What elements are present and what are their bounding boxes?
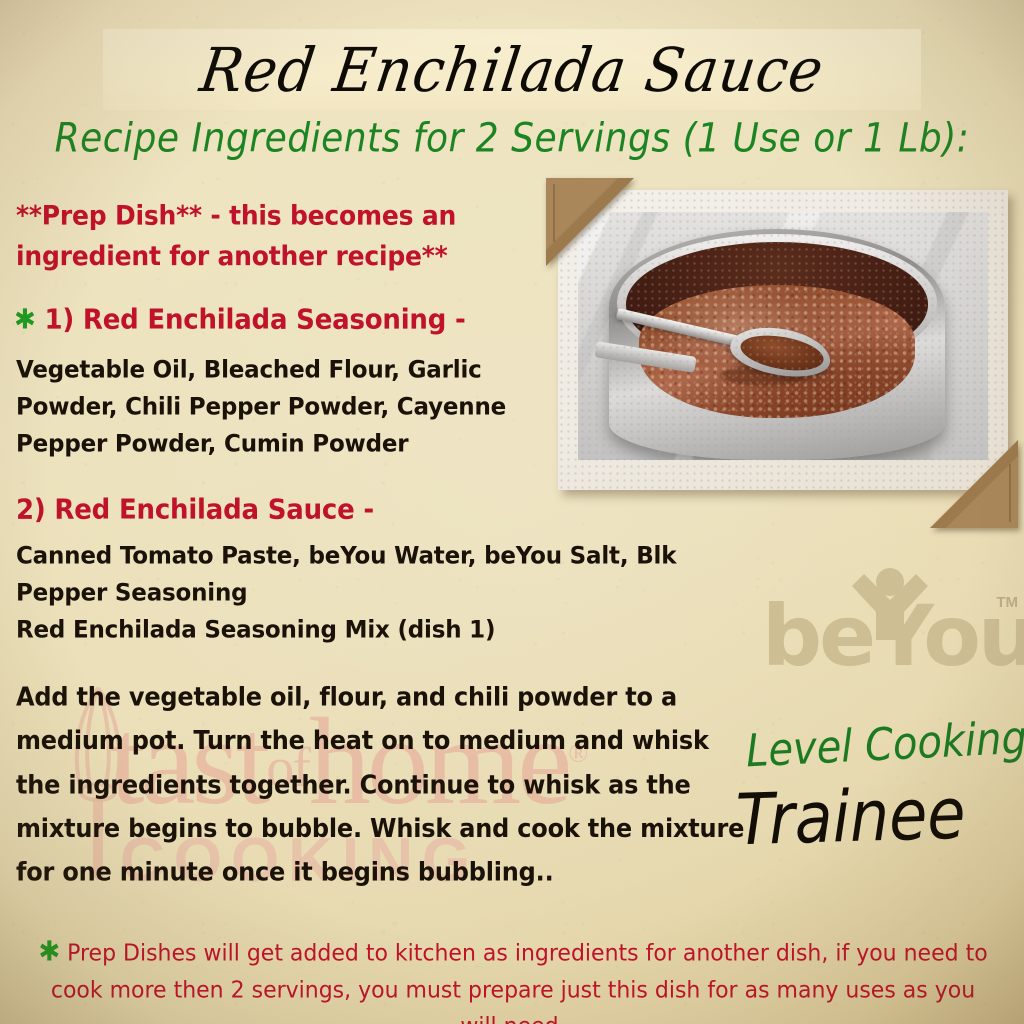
title-banner: Red Enchilada Sauce bbox=[103, 29, 921, 110]
photo-saucepan bbox=[609, 229, 945, 460]
beyou-wordmark: beYou bbox=[762, 594, 1024, 678]
section-2-title: 2) Red Enchilada Sauce bbox=[16, 494, 355, 526]
section-1-ingredients: Vegetable Oil, Bleached Flour, Garlic Po… bbox=[16, 352, 536, 463]
level-cooking-label: Level Cooking bbox=[745, 712, 1024, 777]
prep-dish-note: **Prep Dish** - this becomes an ingredie… bbox=[16, 196, 536, 277]
section-2-heading: 2) Red Enchilada Sauce - bbox=[16, 490, 374, 532]
recipe-subtitle: Recipe Ingredients for 2 Servings (1 Use… bbox=[0, 116, 1024, 162]
section-2-ingredients: Canned Tomato Paste, beYou Water, beYou … bbox=[16, 538, 756, 649]
recipe-photo-block bbox=[540, 176, 1020, 526]
recipe-photo bbox=[578, 212, 988, 460]
page-title: Red Enchilada Sauce bbox=[196, 34, 828, 104]
green-asterisk-icon: ✱ bbox=[14, 304, 36, 336]
section-1-heading: ✱ 1) Red Enchilada Seasoning - bbox=[14, 300, 466, 342]
level-rank-value: Trainee bbox=[735, 771, 966, 861]
beyou-person-icon bbox=[842, 568, 938, 640]
trademark-symbol: TM bbox=[996, 594, 1018, 611]
instructions-text: Add the vegetable oil, flour, and chili … bbox=[16, 676, 756, 895]
section-1-title: 1) Red Enchilada Seasoning bbox=[44, 304, 446, 336]
footer-note-text: Prep Dishes will get added to kitchen as… bbox=[51, 940, 988, 1024]
footer-green-asterisk-icon: ✱ bbox=[38, 936, 60, 968]
section-2-ingredients-line-2: Red Enchilada Seasoning Mix (dish 1) bbox=[16, 612, 756, 649]
section-2-dash: - bbox=[363, 494, 374, 526]
photo-frame bbox=[558, 190, 1008, 490]
recipe-card: tastofhome® COOKING beYou TM Red Enchila… bbox=[0, 0, 1024, 1024]
footer-note: ✱ Prep Dishes will get added to kitchen … bbox=[30, 931, 996, 1024]
section-1-dash: - bbox=[455, 304, 466, 336]
beyou-logo-watermark: beYou TM bbox=[762, 572, 1014, 684]
section-2-ingredients-line-1: Canned Tomato Paste, beYou Water, beYou … bbox=[16, 538, 756, 612]
